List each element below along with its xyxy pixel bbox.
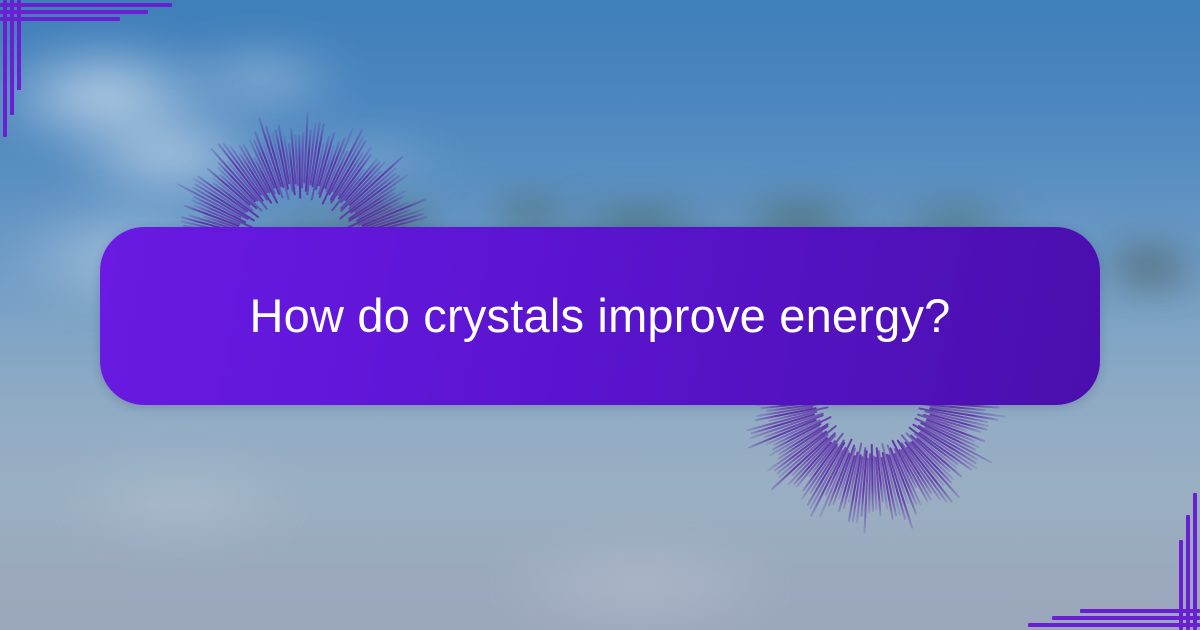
page-title: How do crystals improve energy? bbox=[209, 289, 990, 343]
cloud-shape bbox=[130, 30, 390, 130]
corner-vertical-line bbox=[1193, 493, 1197, 630]
corner-horizontal-line bbox=[0, 10, 148, 14]
corner-horizontal-line bbox=[1028, 623, 1200, 627]
corner-vertical-line bbox=[1186, 515, 1190, 630]
banner-canvas: How do crystals improve energy? bbox=[0, 0, 1200, 630]
cloud-shape bbox=[250, 120, 490, 200]
corner-vertical-line bbox=[10, 0, 14, 115]
corner-vertical-line bbox=[17, 0, 21, 90]
corner-vertical-line bbox=[3, 0, 7, 137]
cloud-shape bbox=[0, 430, 360, 570]
corner-horizontal-line bbox=[0, 3, 172, 7]
corner-vertical-line bbox=[1179, 540, 1183, 630]
corner-horizontal-line bbox=[1052, 616, 1200, 620]
headline-banner: How do crystals improve energy? bbox=[100, 227, 1100, 405]
